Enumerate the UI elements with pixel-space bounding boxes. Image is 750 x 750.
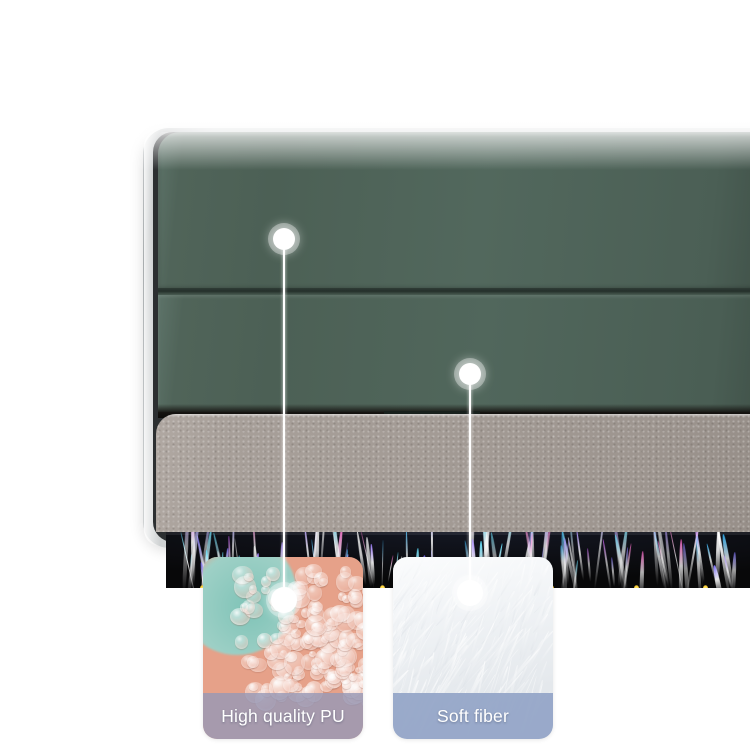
swatch-label-fiber: Soft fiber — [393, 693, 553, 739]
callout-interior-endpoint-dot — [457, 580, 483, 606]
pu-pellet — [348, 589, 362, 604]
pu-pellet — [270, 633, 283, 644]
pu-pellet — [330, 653, 346, 668]
headline-line-1: Preferred materials, — [232, 9, 517, 44]
wallpaper-ribbon — [639, 551, 645, 588]
pu-pellet — [247, 656, 259, 669]
page-title: Preferred materials, internal and extern… — [0, 8, 750, 84]
callout-exterior-dot — [273, 228, 295, 250]
pu-pellet — [244, 573, 254, 581]
pu-pellet — [242, 600, 255, 614]
pu-pellet — [305, 615, 327, 636]
pu-pellet — [235, 635, 249, 648]
pu-pellet — [261, 586, 269, 594]
wallpaper-ribbon — [381, 540, 383, 588]
wallpaper-ribbon — [602, 539, 611, 588]
callout-interior-dot — [459, 363, 481, 385]
pu-pellet — [318, 662, 329, 674]
wallpaper-ribbon-tip — [703, 585, 708, 588]
pu-pellet — [249, 683, 258, 690]
pu-pellet — [349, 673, 356, 681]
pu-pellet — [359, 680, 363, 688]
cover-panel-upper — [158, 132, 750, 290]
product-feature-image: Preferred materials, internal and extern… — [0, 0, 750, 750]
pu-pellet — [319, 578, 328, 586]
pu-pellet — [249, 585, 257, 593]
callout-exterior-endpoint-dot — [271, 587, 297, 613]
cover-panel-lower — [158, 295, 750, 412]
page-subtitle: Fully covered sides, built-in ring buckl… — [0, 86, 750, 110]
wallpaper-ribbon — [731, 552, 737, 588]
wallpaper-ribbon — [610, 557, 615, 587]
headline-line-2: internal and external protection. — [0, 46, 750, 84]
wallpaper-ribbon — [587, 548, 592, 582]
pu-pellet — [291, 629, 301, 638]
swatch-label-pu: High quality PU — [203, 693, 363, 739]
interior-fiber-lining — [156, 414, 750, 532]
wallpaper-ribbon-tip — [380, 585, 385, 588]
wallpaper-ribbon-tip — [634, 585, 639, 588]
pu-pellet — [336, 572, 355, 592]
wallpaper-ribbon — [706, 543, 716, 580]
callout-interior-line — [469, 374, 471, 593]
callout-exterior-line — [283, 239, 285, 600]
pu-pellet — [264, 646, 277, 660]
wallpaper-ribbon — [576, 532, 585, 581]
cover-fold-crease — [158, 288, 750, 295]
product-photo — [0, 118, 750, 588]
